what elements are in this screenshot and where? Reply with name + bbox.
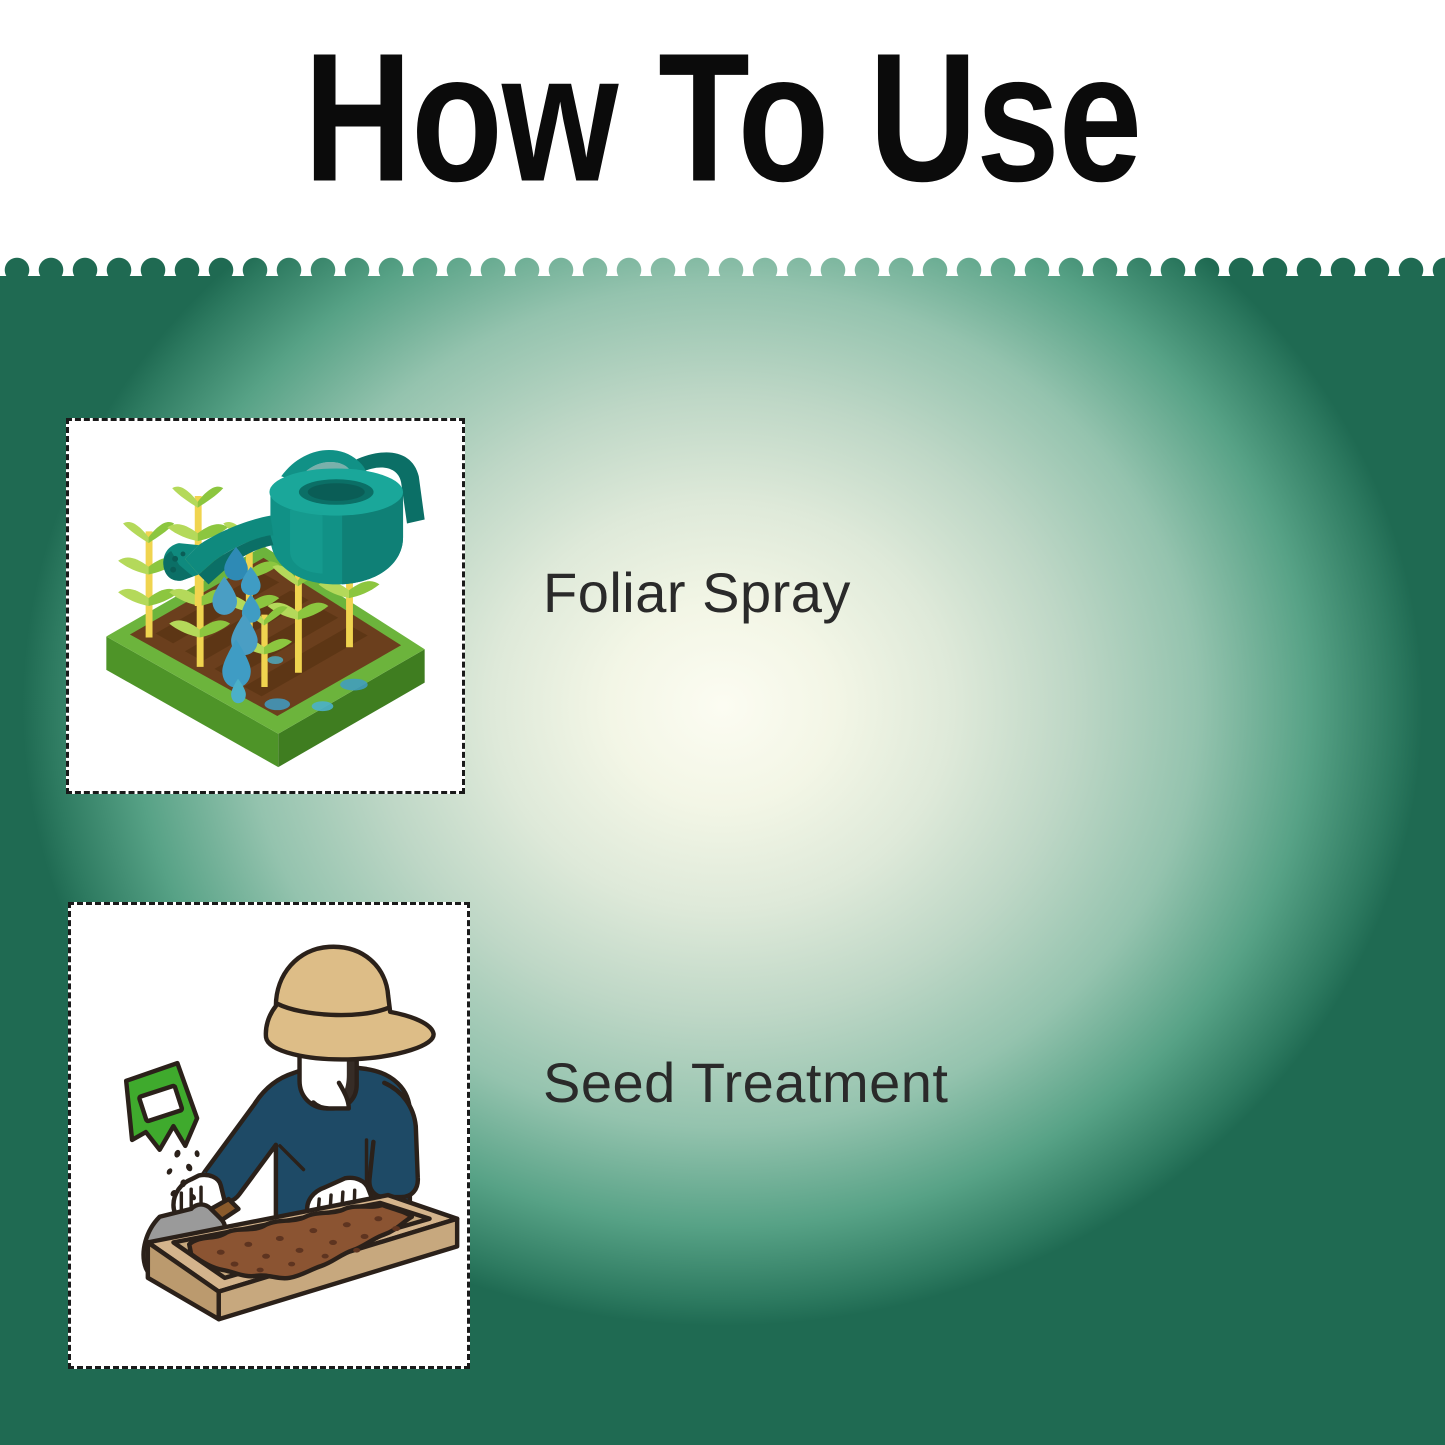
item-label-seed-treatment: Seed Treatment bbox=[543, 1052, 948, 1114]
watering-can-over-crop-field-icon bbox=[69, 421, 462, 791]
page-title: How To Use bbox=[304, 25, 1141, 230]
item-label-foliar-spray: Foliar Spray bbox=[543, 562, 851, 624]
illustration-frame-foliar-spray bbox=[66, 418, 465, 794]
header-band: How To Use bbox=[0, 0, 1445, 255]
how-to-use-infographic: How To Use bbox=[0, 0, 1445, 1445]
illustration-frame-seed-treatment bbox=[68, 902, 470, 1369]
farmer-sowing-seeds-in-tray-icon bbox=[71, 905, 467, 1366]
